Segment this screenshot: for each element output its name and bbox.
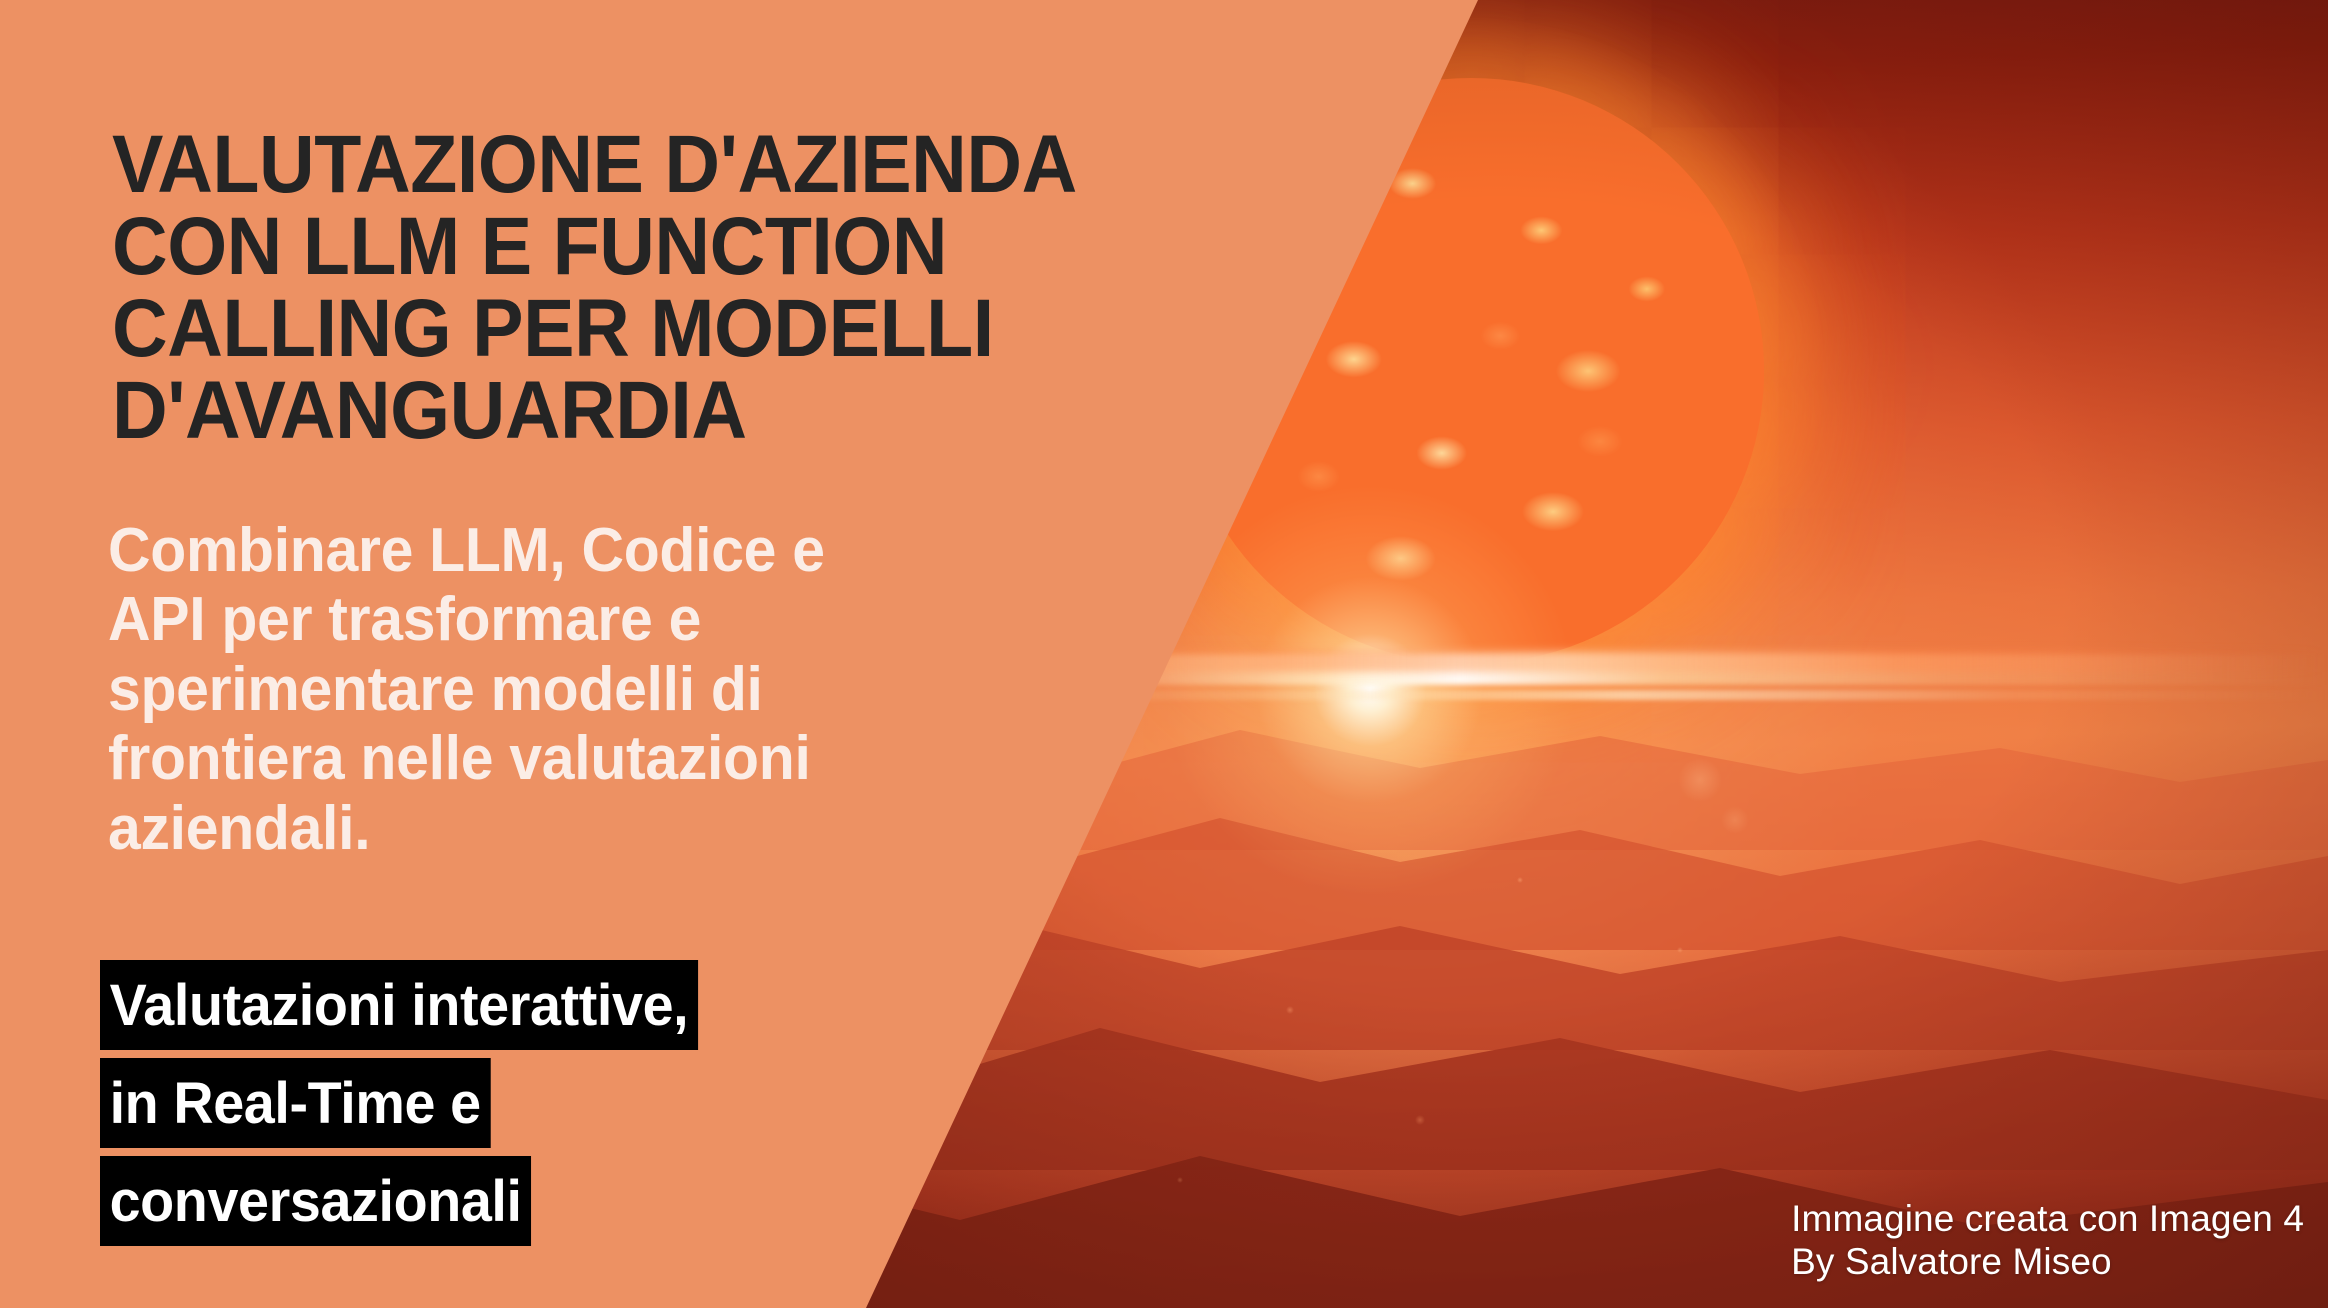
slide-tagline: Valutazioni interattive, in Real-Time e … [100, 960, 723, 1254]
slide-title: VALUTAZIONE D'AZIENDA CON LLM E FUNCTION… [112, 124, 1071, 452]
title-line-3: CALLING PER MODELLI [112, 288, 1071, 370]
subtitle-line-3: sperimentare modelli di [108, 655, 1077, 724]
image-credit: Immagine creata con Imagen 4 By Salvator… [1791, 1197, 2304, 1284]
subtitle-line-1: Combinare LLM, Codice e [108, 516, 1077, 585]
credit-line-2: By Salvatore Miseo [1791, 1240, 2304, 1284]
slide-subtitle: Combinare LLM, Codice e API per trasform… [108, 516, 1077, 863]
presentation-slide: Immagine creata con Imagen 4 By Salvator… [0, 0, 2328, 1308]
title-line-1: VALUTAZIONE D'AZIENDA [112, 124, 1071, 206]
title-line-4: D'AVANGUARDIA [112, 370, 1071, 452]
tagline-line-1: Valutazioni interattive, [100, 960, 698, 1050]
tagline-line-2: in Real-Time e [100, 1058, 490, 1148]
subtitle-line-2: API per trasformare e [108, 585, 1077, 654]
title-line-2: CON LLM E FUNCTION [112, 206, 1071, 288]
subtitle-line-4: frontiera nelle valutazioni [108, 724, 1077, 793]
tagline-line-3: conversazionali [100, 1156, 531, 1246]
subtitle-line-5: aziendali. [108, 794, 1077, 863]
text-panel: VALUTAZIONE D'AZIENDA CON LLM E FUNCTION… [0, 0, 1480, 1308]
credit-line-1: Immagine creata con Imagen 4 [1791, 1197, 2304, 1241]
